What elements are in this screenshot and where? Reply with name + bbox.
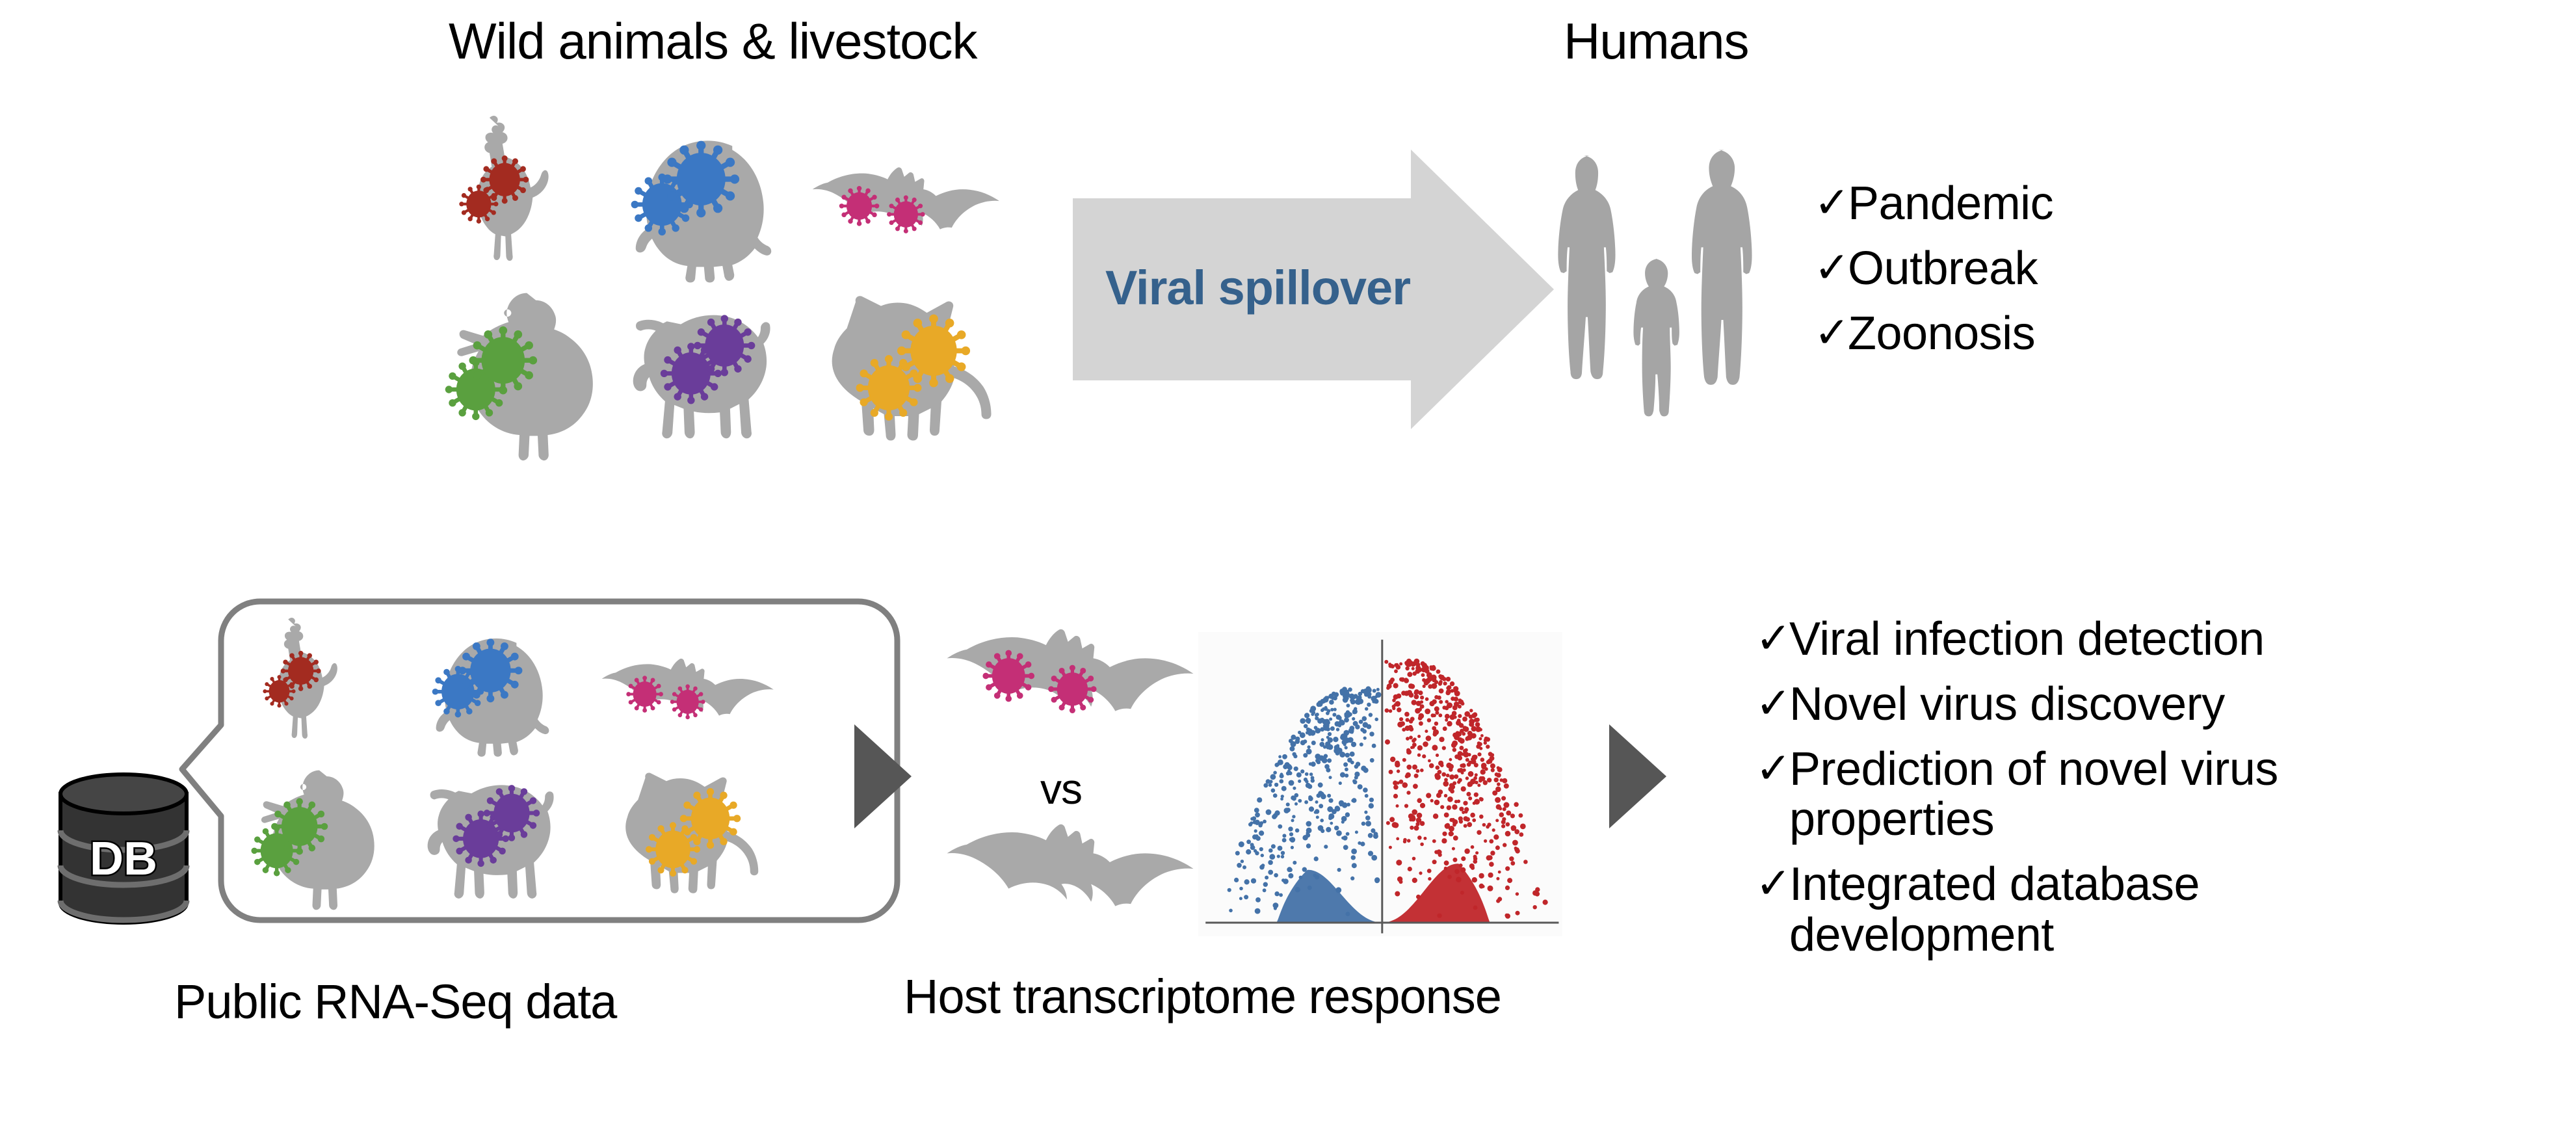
transcriptome-caption: Host transcriptome response [904, 969, 1501, 1024]
output-label: Novel virus discovery [1789, 679, 2406, 730]
animals-title: Wild animals & livestock [449, 12, 977, 71]
volcano-plot [1198, 632, 1562, 936]
check-icon: ✓ [1755, 860, 1789, 908]
output-item: ✓ Novel virus discovery [1755, 679, 2406, 730]
output-label: Prediction of novel virus properties [1789, 745, 2406, 846]
animal-cell-mouse [624, 124, 787, 260]
output-item: ✓ Prediction of novel virus properties [1755, 745, 2406, 846]
animal-cell-pig [624, 289, 787, 426]
animal-cell-chicken [429, 124, 592, 260]
animal-duck [429, 289, 592, 426]
animal-bat [819, 124, 982, 260]
comparison-label: vs [1040, 764, 1082, 813]
animal-cell-bat [819, 124, 982, 260]
animal-chicken [429, 124, 592, 260]
viral-spillover-label: Viral spillover [1105, 260, 1410, 315]
animal-cell-duck [231, 767, 380, 881]
animal-fox [608, 767, 757, 881]
check-icon: ✓ [1755, 614, 1789, 663]
animal-cell-pig [419, 767, 569, 881]
animal-mouse [624, 124, 787, 260]
check-icon: ✓ [1755, 745, 1789, 793]
humans-title: Humans [1564, 12, 1748, 71]
animal-cell-duck [429, 289, 592, 426]
outcome-label: Pandemic [1848, 179, 2217, 230]
animal-bat [608, 624, 757, 738]
animal-mouse [419, 624, 569, 738]
bat-uninfected [956, 800, 1170, 914]
animal-cell-mouse [419, 624, 569, 738]
outcomes-checklist: ✓ Pandemic ✓ Outbreak ✓ Zoonosis [1814, 179, 2217, 373]
output-label: Viral infection detection [1789, 614, 2406, 665]
animal-cell-bat [608, 624, 757, 738]
rnaseq-caption: Public RNA-Seq data [174, 974, 616, 1029]
animal-chicken [231, 624, 380, 738]
animal-pig [624, 289, 787, 426]
outputs-checklist: ✓ Viral infection detection ✓ Novel viru… [1755, 614, 2406, 975]
wild-animals-group [429, 124, 1040, 462]
animal-duck [231, 767, 380, 881]
output-item: ✓ Integrated database development [1755, 860, 2406, 961]
outcome-label: Outbreak [1848, 244, 2217, 295]
outcome-item: ✓ Zoonosis [1814, 309, 2217, 360]
animal-cell-fox [608, 767, 757, 881]
outcome-item: ✓ Pandemic [1814, 179, 2217, 230]
outcome-label: Zoonosis [1848, 309, 2217, 360]
database-label: DB [90, 833, 157, 885]
animal-pig [419, 767, 569, 881]
human-family-group [1534, 137, 1788, 442]
check-icon: ✓ [1755, 679, 1789, 728]
volcano-plot-svg [1198, 632, 1562, 936]
check-icon: ✓ [1814, 244, 1848, 292]
animal-fox [819, 289, 982, 426]
outcome-item: ✓ Outbreak [1814, 244, 2217, 295]
flow-arrow-2 [1608, 723, 1670, 830]
animal-cell-chicken [231, 624, 380, 738]
output-item: ✓ Viral infection detection [1755, 614, 2406, 665]
animal-cell-fox [819, 289, 982, 426]
check-icon: ✓ [1814, 179, 1848, 227]
database-icon: DB [49, 771, 198, 927]
check-icon: ✓ [1814, 309, 1848, 357]
rnaseq-animals-group [231, 624, 855, 904]
output-label: Integrated database development [1789, 860, 2406, 961]
bat-infected [956, 605, 1170, 719]
flow-arrow-1 [853, 723, 915, 830]
